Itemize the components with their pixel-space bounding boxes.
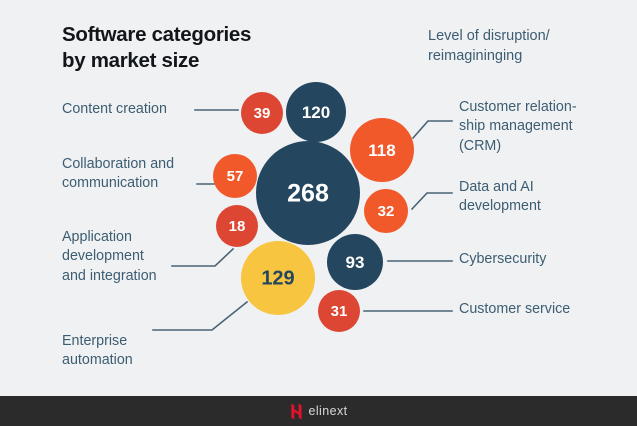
- l-dataai: Data and AI development: [459, 178, 629, 217]
- bubble-label-118: 118: [368, 141, 395, 160]
- l-customerservice: Customer service: [459, 300, 629, 319]
- bubble-118[interactable]: 118: [350, 118, 414, 182]
- bubble-120[interactable]: 120: [286, 82, 346, 142]
- l-crm: Customer relation- ship management (CRM): [459, 98, 629, 156]
- bubble-label-129: 129: [261, 268, 294, 290]
- c-dataai: [412, 193, 452, 209]
- bubble-layer: 391205726811818321299331: [213, 82, 414, 332]
- chart-canvas: Software categories by market size Level…: [0, 0, 637, 396]
- bubble-label-18: 18: [229, 218, 246, 235]
- footer-bar: elinext: [0, 396, 637, 426]
- bubble-label-120: 120: [302, 103, 330, 122]
- brand-wordmark: elinext: [309, 404, 348, 418]
- infographic-root: Software categories by market size Level…: [0, 0, 637, 426]
- l-enterprise: Enterprise automation: [62, 332, 192, 371]
- bubble-32[interactable]: 32: [364, 189, 408, 233]
- bubble-57[interactable]: 57: [213, 154, 257, 198]
- bubble-18[interactable]: 18: [216, 205, 258, 247]
- bubble-label-32: 32: [378, 203, 395, 220]
- l-collaboration: Collaboration and communication: [62, 155, 202, 194]
- l-appdev: Application development and integration: [62, 228, 192, 286]
- bubble-label-39: 39: [254, 105, 271, 122]
- brand-logo: elinext: [290, 403, 348, 420]
- bubble-31[interactable]: 31: [318, 290, 360, 332]
- bubble-268[interactable]: 268: [256, 141, 360, 245]
- c-enterprise: [153, 302, 247, 330]
- bubble-129[interactable]: 129: [241, 241, 315, 315]
- bubble-label-57: 57: [227, 168, 244, 185]
- bubble-label-93: 93: [346, 253, 365, 272]
- bubble-label-268: 268: [287, 180, 329, 208]
- c-crm: [413, 121, 452, 138]
- bubble-39[interactable]: 39: [241, 92, 283, 134]
- l-cybersecurity: Cybersecurity: [459, 250, 629, 269]
- l-content-creation: Content creation: [62, 100, 202, 119]
- elinext-n-mark-icon: [290, 403, 303, 420]
- bubble-93[interactable]: 93: [327, 234, 383, 290]
- bubble-label-31: 31: [331, 303, 348, 320]
